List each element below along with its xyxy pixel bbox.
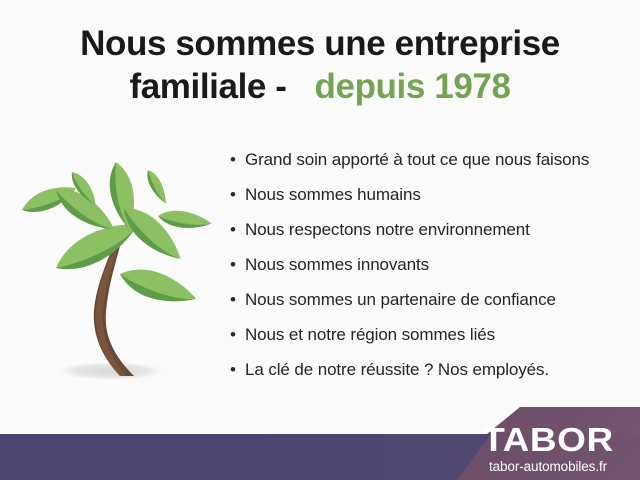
tree-leaf bbox=[116, 261, 200, 311]
value-bullet-list: • Grand soin apporté à tout ce que nous … bbox=[230, 150, 630, 395]
brand-logo[interactable]: TABOR tabor-automobiles.fr bbox=[468, 423, 628, 474]
tree-illustration bbox=[8, 150, 213, 390]
list-item-label: Nous sommes innovants bbox=[245, 255, 429, 275]
list-item: • Nous sommes humains bbox=[230, 185, 630, 220]
list-item: • Nous sommes un partenaire de confiance bbox=[230, 290, 630, 325]
title-accent-since: depuis 1978 bbox=[315, 67, 511, 106]
list-item-label: Nous respectons notre environnement bbox=[245, 220, 530, 240]
title-line-1: Nous sommes une entreprise bbox=[0, 24, 640, 65]
tree-leaf bbox=[157, 208, 213, 232]
bullet-icon: • bbox=[230, 151, 245, 168]
list-item: • Grand soin apporté à tout ce que nous … bbox=[230, 150, 630, 185]
tree-leaf bbox=[143, 167, 171, 206]
list-item-label: Nous sommes humains bbox=[245, 185, 421, 205]
bullet-icon: • bbox=[230, 186, 245, 203]
list-item: • Nous respectons notre environnement bbox=[230, 220, 630, 255]
list-item: • Nous et notre région sommes liés bbox=[230, 325, 630, 360]
title-line-2-main: familiale - bbox=[129, 67, 286, 106]
list-item-label: Nous sommes un partenaire de confiance bbox=[245, 290, 556, 310]
list-item: • La clé de notre réussite ? Nos employé… bbox=[230, 360, 630, 395]
bullet-icon: • bbox=[230, 361, 245, 378]
list-item-label: La clé de notre réussite ? Nos employés. bbox=[245, 360, 549, 380]
bullet-icon: • bbox=[230, 221, 245, 238]
brand-logo-wordmark: TABOR bbox=[458, 423, 637, 456]
slide-canvas: Nous sommes une entreprise familiale - d… bbox=[0, 0, 640, 480]
bullet-icon: • bbox=[230, 291, 245, 308]
bullet-icon: • bbox=[230, 256, 245, 273]
bullet-icon: • bbox=[230, 326, 245, 343]
title-line-2: familiale - depuis 1978 bbox=[0, 67, 640, 108]
footer-banner: TABOR tabor-automobiles.fr bbox=[0, 400, 640, 480]
brand-logo-tagline: tabor-automobiles.fr bbox=[468, 460, 628, 474]
list-item-label: Grand soin apporté à tout ce que nous fa… bbox=[245, 150, 589, 170]
list-item: • Nous sommes innovants bbox=[230, 255, 630, 290]
page-title: Nous sommes une entreprise familiale - d… bbox=[0, 24, 640, 107]
list-item-label: Nous et notre région sommes liés bbox=[245, 325, 495, 345]
